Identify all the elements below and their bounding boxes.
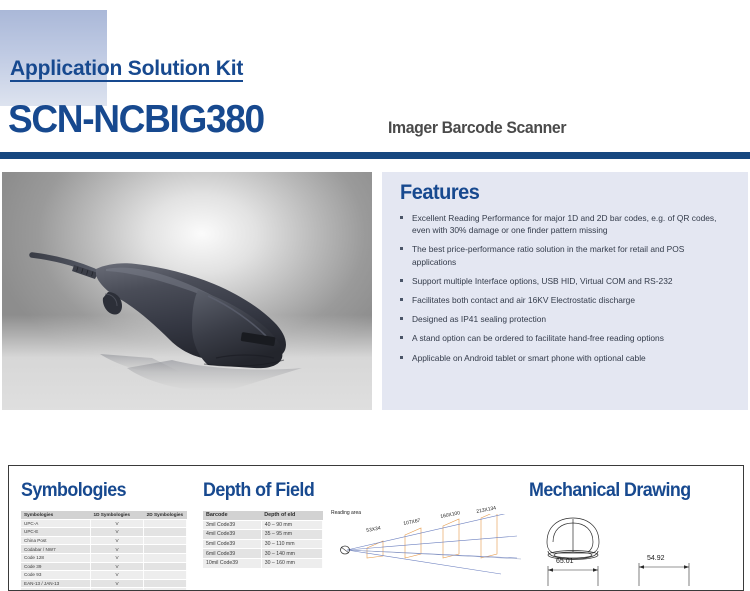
barcode-type: 6mil Code39 bbox=[203, 549, 261, 559]
oned-check: V bbox=[90, 536, 143, 545]
symbologies-title: Symbologies bbox=[21, 481, 126, 500]
symbology-name: Code 128 bbox=[21, 553, 90, 562]
mechanical-drawing-graphic: 65.01 54.92 bbox=[529, 510, 739, 590]
feature-item: Facilitates both contact and air 16KV El… bbox=[400, 294, 730, 306]
application-solution-kit-title: Application Solution Kit bbox=[10, 58, 243, 82]
twod-check bbox=[144, 571, 187, 580]
symbology-name: China Post bbox=[21, 536, 90, 545]
feature-item: Excellent Reading Performance for major … bbox=[400, 212, 730, 236]
oned-check: V bbox=[90, 545, 143, 554]
column-header: Depth of eld bbox=[261, 511, 322, 520]
column-header: Barcode bbox=[203, 511, 261, 520]
twod-check bbox=[144, 536, 187, 545]
datasheet-page: Application Solution Kit SCN-NCBIG380 Im… bbox=[0, 0, 750, 591]
feature-item: The best price-performance ratio solutio… bbox=[400, 243, 730, 267]
twod-check bbox=[144, 579, 187, 588]
table-header-row: Symbologies 1D Symbologies 2D Symbologie… bbox=[21, 511, 187, 519]
twod-check bbox=[144, 519, 187, 528]
table-header-row: Barcode Depth of eld bbox=[203, 511, 323, 520]
symbology-name: Code 93 bbox=[21, 571, 90, 580]
symbology-name: UPC-A bbox=[21, 519, 90, 528]
column-header: 2D Symbologies bbox=[144, 511, 187, 519]
table-row: UPC-A V bbox=[21, 519, 187, 528]
barcode-type: 4mil Code39 bbox=[203, 530, 261, 540]
reading-area-graphic bbox=[331, 514, 531, 590]
table-row: 6mil Code39 30 – 140 mm bbox=[203, 549, 323, 559]
reading-area-diagram: Reading area 53X34 107X67 160X100 213X13… bbox=[331, 514, 531, 590]
table-row: 3mil Code39 40 – 90 mm bbox=[203, 520, 323, 530]
oned-check: V bbox=[90, 553, 143, 562]
oned-check: V bbox=[90, 562, 143, 571]
symbology-name: EAN-13 / JAN-13 bbox=[21, 579, 90, 588]
mechanical-drawing-title: Mechanical Drawing bbox=[529, 481, 691, 500]
oned-check: V bbox=[90, 579, 143, 588]
header-divider-rule bbox=[0, 152, 750, 159]
table-row: Codabar / NW7 V bbox=[21, 545, 187, 554]
specifications-panel: Symbologies Depth of Field Mechanical Dr… bbox=[8, 465, 744, 591]
table-row: UPC-E V bbox=[21, 528, 187, 537]
feature-item: Designed as IP41 sealing protection bbox=[400, 313, 730, 325]
depth-value: 40 – 90 mm bbox=[261, 520, 322, 530]
symbology-name: Code 39 bbox=[21, 562, 90, 571]
feature-item: Applicable on Android tablet or smart ph… bbox=[400, 352, 730, 364]
feature-item: A stand option can be ordered to facilit… bbox=[400, 332, 730, 344]
table-row: 10mil Code39 30 – 160 mm bbox=[203, 558, 323, 568]
barcode-type: 5mil Code39 bbox=[203, 539, 261, 549]
oned-check: V bbox=[90, 519, 143, 528]
product-photo bbox=[2, 172, 372, 410]
twod-check bbox=[144, 545, 187, 554]
depth-of-field-table: Barcode Depth of eld 3mil Code39 40 – 90… bbox=[203, 511, 323, 569]
features-title: Features bbox=[400, 182, 479, 203]
column-header: Symbologies bbox=[21, 511, 90, 519]
oned-check: V bbox=[90, 571, 143, 580]
features-panel: Features Excellent Reading Performance f… bbox=[382, 172, 748, 410]
product-subtitle: Imager Barcode Scanner bbox=[388, 119, 566, 136]
depth-value: 30 – 110 mm bbox=[261, 539, 322, 549]
product-model-title: SCN-NCBIG380 bbox=[8, 100, 264, 139]
dimension-depth-label: 54.92 bbox=[647, 555, 665, 562]
dimension-width-label: 65.01 bbox=[556, 558, 574, 565]
scanner-dimension-drawing bbox=[529, 510, 739, 590]
twod-check bbox=[144, 562, 187, 571]
table-row: Code 39 V bbox=[21, 562, 187, 571]
depth-of-field-title: Depth of Field bbox=[203, 481, 314, 500]
feature-item: Support multiple Interface options, USB … bbox=[400, 275, 730, 287]
table-row: Code 93 V bbox=[21, 571, 187, 580]
barcode-type: 3mil Code39 bbox=[203, 520, 261, 530]
twod-check bbox=[144, 528, 187, 537]
features-list: Excellent Reading Performance for major … bbox=[400, 212, 730, 371]
symbologies-table: Symbologies 1D Symbologies 2D Symbologie… bbox=[21, 511, 187, 591]
table-row: China Post V bbox=[21, 536, 187, 545]
symbology-name: UPC-E bbox=[21, 528, 90, 537]
table-row: Code 128 V bbox=[21, 553, 187, 562]
barcode-type: 10mil Code39 bbox=[203, 558, 261, 568]
table-row: 5mil Code39 30 – 110 mm bbox=[203, 539, 323, 549]
scanner-illustration bbox=[2, 172, 372, 410]
reading-area-caption: Reading area bbox=[331, 510, 361, 516]
column-header: 1D Symbologies bbox=[90, 511, 143, 519]
table-row: 4mil Code39 35 – 95 mm bbox=[203, 530, 323, 540]
twod-check bbox=[144, 553, 187, 562]
depth-value: 30 – 140 mm bbox=[261, 549, 322, 559]
depth-value: 30 – 160 mm bbox=[261, 558, 322, 568]
table-row: EAN-13 / JAN-13 V bbox=[21, 579, 187, 588]
depth-value: 35 – 95 mm bbox=[261, 530, 322, 540]
symbology-name: Codabar / NW7 bbox=[21, 545, 90, 554]
oned-check: V bbox=[90, 528, 143, 537]
